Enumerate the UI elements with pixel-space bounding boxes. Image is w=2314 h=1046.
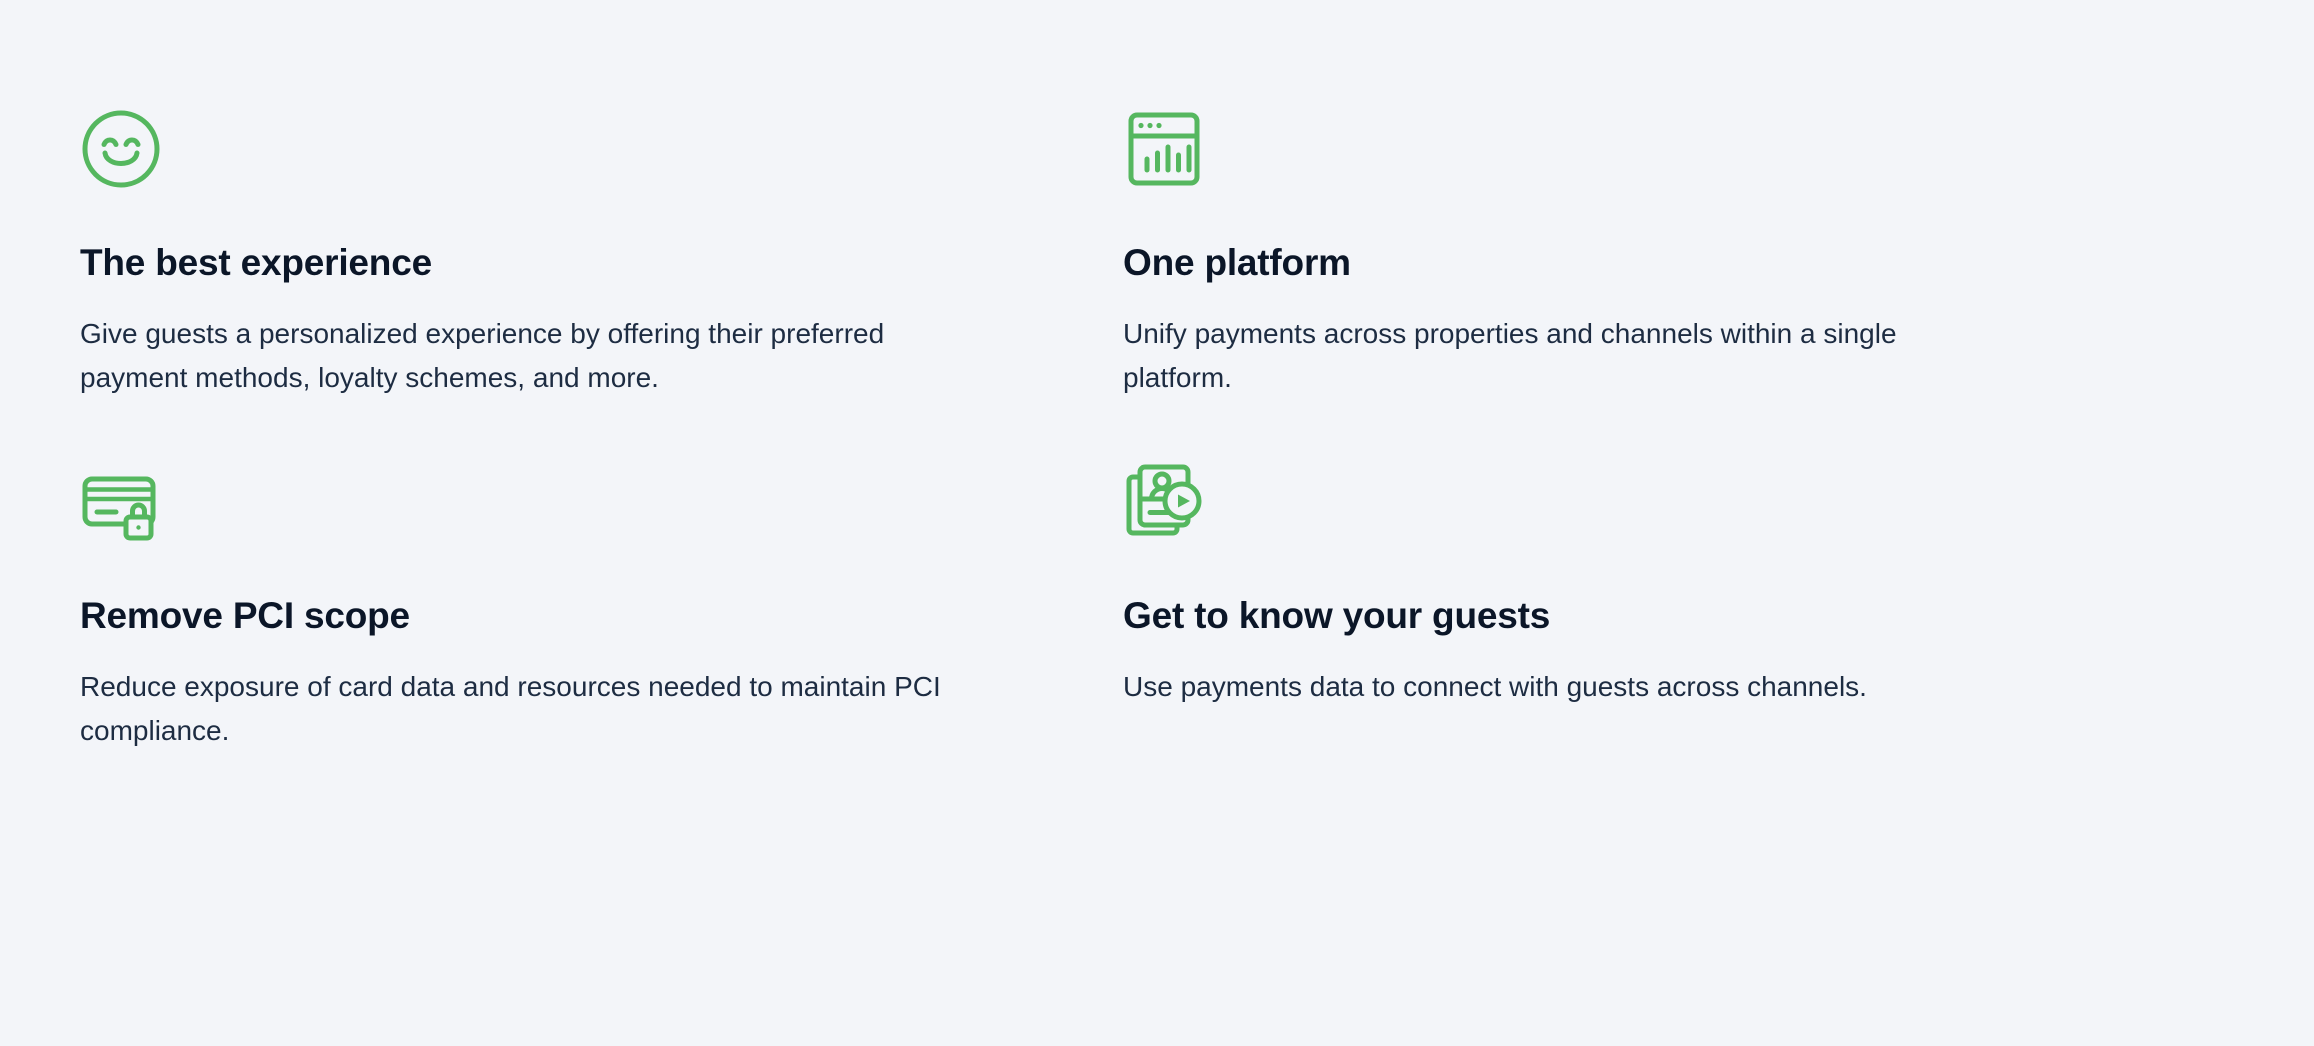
profile-cards-play-icon xyxy=(1123,461,1205,543)
features-grid: The best experience Give guests a person… xyxy=(0,0,2314,1046)
feature-title: Get to know your guests xyxy=(1123,595,2083,638)
feature-title: One platform xyxy=(1123,242,2083,285)
feature-description: Unify payments across properties and cha… xyxy=(1123,312,2003,400)
feature-description: Use payments data to connect with guests… xyxy=(1123,665,2003,709)
feature-description: Give guests a personalized experience by… xyxy=(80,312,975,400)
feature-card-know-your-guests: Get to know your guests Use payments dat… xyxy=(1123,461,2083,753)
feature-card-one-platform: One platform Unify payments across prope… xyxy=(1123,108,2083,400)
feature-description: Reduce exposure of card data and resourc… xyxy=(80,665,975,753)
smiley-face-icon xyxy=(80,108,162,190)
feature-card-best-experience: The best experience Give guests a person… xyxy=(80,108,1040,400)
feature-title: The best experience xyxy=(80,242,1040,285)
feature-card-remove-pci-scope: Remove PCI scope Reduce exposure of card… xyxy=(80,461,1040,753)
browser-bar-chart-icon xyxy=(1123,108,1205,190)
credit-card-lock-icon xyxy=(80,461,162,543)
feature-title: Remove PCI scope xyxy=(80,595,1040,638)
